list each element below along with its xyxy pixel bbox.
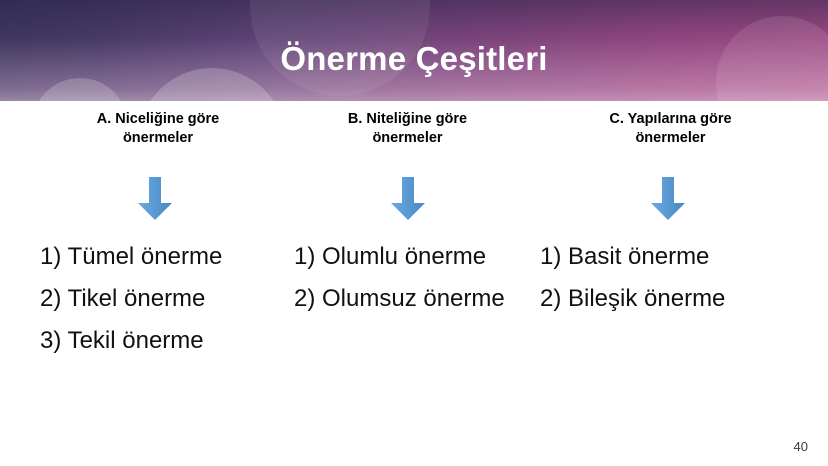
list-item: 2) Olumsuz önerme — [294, 287, 525, 311]
list-item: 1) Tümel önerme — [40, 245, 302, 269]
arrow-down-icon — [390, 177, 426, 221]
page-number: 40 — [794, 439, 808, 454]
column-a-heading-line2: önermeler — [14, 129, 302, 148]
column-b-heading-line2: önermeler — [290, 129, 525, 148]
column-a-heading: A. Niceliğine göre önermeler — [14, 110, 302, 149]
column-c-arrow-container — [528, 177, 813, 223]
column-c-heading: C. Yapılarına göre önermeler — [528, 110, 813, 149]
category-column-b: B. Niteliğine göre önermeler 1) Olumlu ö… — [290, 110, 525, 329]
arrow-down-icon — [137, 177, 173, 221]
page-title: Önerme Çeşitleri — [0, 42, 828, 75]
column-a-heading-line1: A. Niceliğine göre — [14, 110, 302, 129]
column-b-arrow-container — [290, 177, 525, 223]
category-column-c: C. Yapılarına göre önermeler 1) Basit ön… — [528, 110, 813, 329]
column-b-heading-line1: B. Niteliğine göre — [290, 110, 525, 129]
arrow-down-icon — [650, 177, 686, 221]
slide-canvas: Önerme Çeşitleri A. Niceliğine göre öner… — [0, 0, 828, 466]
column-b-item-list: 1) Olumlu önerme 2) Olumsuz önerme — [290, 245, 525, 311]
list-item: 1) Olumlu önerme — [294, 245, 525, 269]
list-item: 1) Basit önerme — [540, 245, 813, 269]
list-item: 2) Tikel önerme — [40, 287, 302, 311]
column-c-heading-line1: C. Yapılarına göre — [528, 110, 813, 129]
list-item: 3) Tekil önerme — [40, 329, 302, 353]
column-a-item-list: 1) Tümel önerme 2) Tikel önerme 3) Tekil… — [14, 245, 302, 353]
column-c-heading-line2: önermeler — [528, 129, 813, 148]
column-a-arrow-container — [14, 177, 302, 223]
column-c-item-list: 1) Basit önerme 2) Bileşik önerme — [528, 245, 813, 311]
category-column-a: A. Niceliğine göre önermeler 1) Tümel ön… — [14, 110, 302, 371]
column-b-heading: B. Niteliğine göre önermeler — [290, 110, 525, 149]
list-item: 2) Bileşik önerme — [540, 287, 813, 311]
